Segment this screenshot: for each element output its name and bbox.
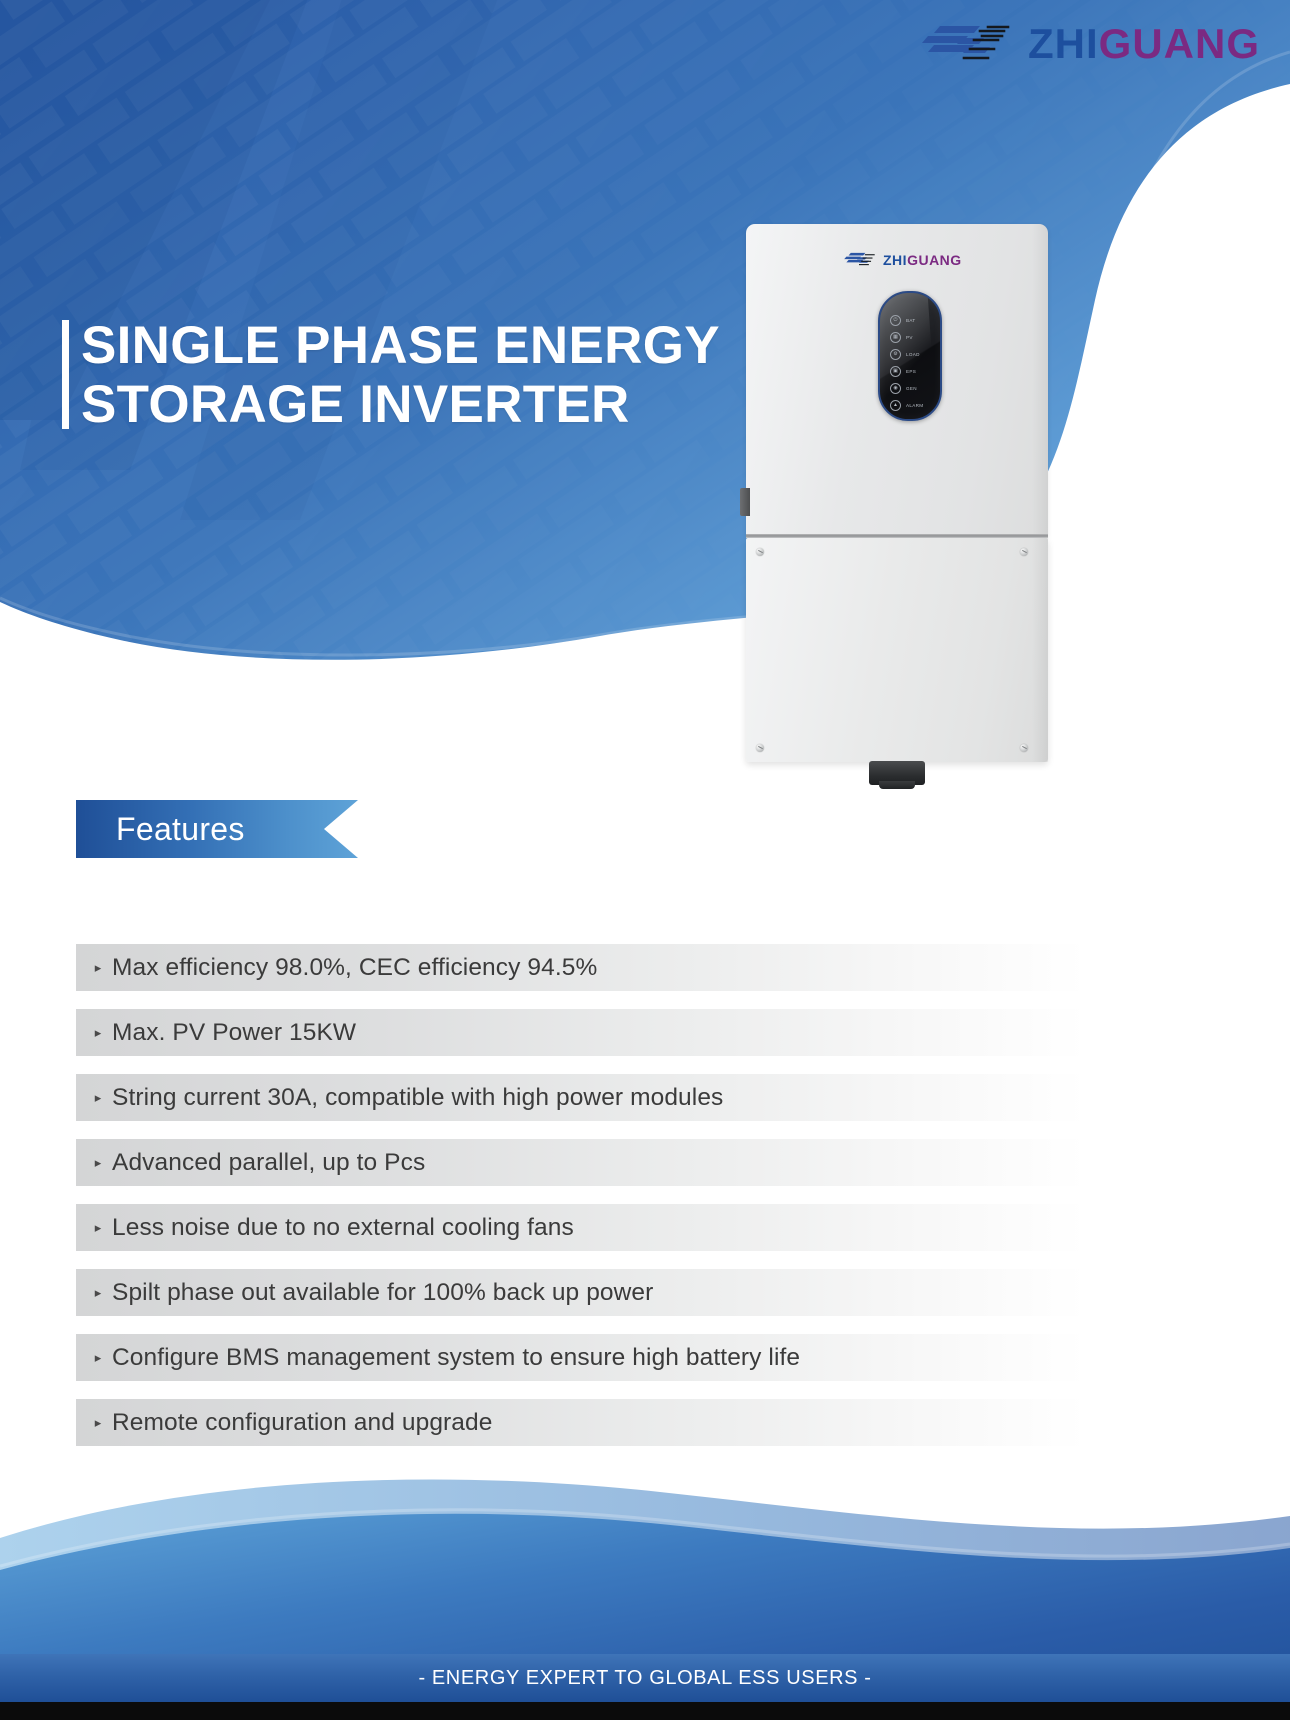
brand-logo: ZHIGUANG [922, 18, 1260, 70]
led-label: ALARM [906, 403, 923, 408]
cable-conduit [869, 761, 925, 785]
battery-icon: ⏻ [890, 315, 901, 326]
stacked-bars-logo-icon [844, 250, 878, 269]
screw-icon [756, 548, 764, 556]
inverter-upper-unit: ZHIGUANG ⏻ BAT ▦ PV ⚙ LOAD ▣ [746, 224, 1048, 536]
led-label: BAT [906, 318, 916, 323]
led-status-panel: ⏻ BAT ▦ PV ⚙ LOAD ▣ EPS ◉ GEN [878, 291, 942, 421]
title-accent-bar [62, 320, 69, 429]
footer-tagline: - ENERGY EXPERT TO GLOBAL ESS USERS - [418, 1667, 871, 1690]
led-label: LOAD [906, 352, 920, 357]
led-label: PV [906, 335, 913, 340]
stacked-bars-logo-icon [922, 18, 1014, 70]
led-label: GEN [906, 386, 917, 391]
led-row-load: ⚙ LOAD [890, 349, 920, 360]
led-label: EPS [906, 369, 916, 374]
feature-text: Max. PV Power 15KW [112, 1019, 356, 1047]
list-item: ▸ String current 30A, compatible with hi… [76, 1074, 1086, 1121]
led-row-alarm: ▲ ALARM [890, 400, 923, 411]
features-heading: Features [116, 800, 245, 858]
product-brand-part2: GUANG [907, 252, 962, 268]
brochure-page: ZHIGUANG SINGLE PHASE ENERGY STORAGE INV… [0, 0, 1290, 1720]
screw-icon [1020, 548, 1028, 556]
list-item: ▸ Less noise due to no external cooling … [76, 1204, 1086, 1251]
eps-icon: ▣ [890, 366, 901, 377]
product-brand-logo: ZHIGUANG [844, 250, 962, 269]
feature-text: String current 30A, compatible with high… [112, 1084, 723, 1112]
brand-wordmark: ZHIGUANG [1028, 23, 1260, 65]
footer-tagline-bar: - ENERGY EXPERT TO GLOBAL ESS USERS - [0, 1654, 1290, 1702]
screw-icon [1020, 744, 1028, 752]
brand-name-part1: ZHI [1028, 20, 1099, 67]
list-item: ▸ Remote configuration and upgrade [76, 1399, 1086, 1446]
title-line-1: SINGLE PHASE ENERGY [81, 316, 720, 375]
product-brand-part1: ZHI [883, 252, 907, 268]
door-hinge [740, 488, 750, 516]
feature-text: Spilt phase out available for 100% back … [112, 1279, 653, 1307]
feature-text: Max efficiency 98.0%, CEC efficiency 94.… [112, 954, 597, 982]
led-row-eps: ▣ EPS [890, 366, 916, 377]
led-row-bat: ⏻ BAT [890, 315, 916, 326]
feature-list: ▸ Max efficiency 98.0%, CEC efficiency 9… [76, 944, 1086, 1464]
load-icon: ⚙ [890, 349, 901, 360]
features-banner: Features [76, 800, 358, 858]
triangle-bullet-icon: ▸ [90, 1091, 106, 1104]
triangle-bullet-icon: ▸ [90, 1026, 106, 1039]
footer-black-strip [0, 1702, 1290, 1720]
warning-triangle-icon: ▲ [890, 400, 901, 411]
feature-text: Remote configuration and upgrade [112, 1409, 493, 1437]
led-row-pv: ▦ PV [890, 332, 913, 343]
product-brand-wordmark: ZHIGUANG [883, 252, 962, 268]
generator-icon: ◉ [890, 383, 901, 394]
screw-icon [756, 744, 764, 752]
feature-text: Less noise due to no external cooling fa… [112, 1214, 574, 1242]
title-line-2: STORAGE INVERTER [81, 375, 720, 434]
triangle-bullet-icon: ▸ [90, 1416, 106, 1429]
list-item: ▸ Max efficiency 98.0%, CEC efficiency 9… [76, 944, 1086, 991]
triangle-bullet-icon: ▸ [90, 1286, 106, 1299]
triangle-bullet-icon: ▸ [90, 1221, 106, 1234]
solar-panel-icon: ▦ [890, 332, 901, 343]
list-item: ▸ Max. PV Power 15KW [76, 1009, 1086, 1056]
feature-text: Configure BMS management system to ensur… [112, 1344, 800, 1372]
list-item: ▸ Spilt phase out available for 100% bac… [76, 1269, 1086, 1316]
triangle-bullet-icon: ▸ [90, 1156, 106, 1169]
feature-text: Advanced parallel, up to Pcs [112, 1149, 425, 1177]
product-image: ZHIGUANG ⏻ BAT ▦ PV ⚙ LOAD ▣ [746, 224, 1048, 784]
triangle-bullet-icon: ▸ [90, 1351, 106, 1364]
list-item: ▸ Advanced parallel, up to Pcs [76, 1139, 1086, 1186]
page-title: SINGLE PHASE ENERGY STORAGE INVERTER [62, 316, 720, 435]
led-row-gen: ◉ GEN [890, 383, 917, 394]
list-item: ▸ Configure BMS management system to ens… [76, 1334, 1086, 1381]
brand-name-part2: GUANG [1099, 20, 1260, 67]
triangle-bullet-icon: ▸ [90, 961, 106, 974]
inverter-lower-unit [746, 538, 1048, 762]
